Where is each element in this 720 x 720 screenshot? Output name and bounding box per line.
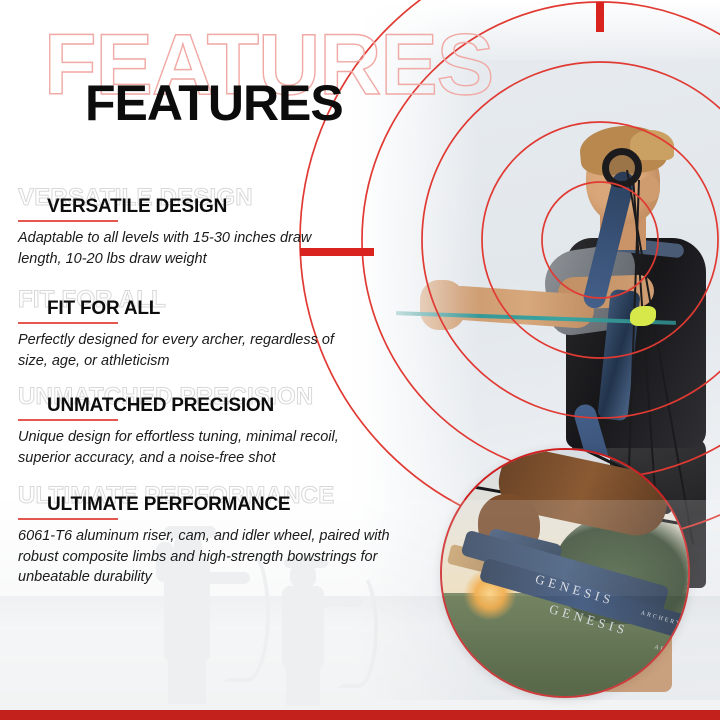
feature-underline [18, 518, 118, 520]
features-content: FEATURES FEATURES VERSATILE DESIGN VERSA… [0, 0, 430, 700]
feature-underline [18, 220, 118, 222]
feature-title: ULTIMATE PERFORMANCE [47, 495, 290, 514]
feature-underline [18, 419, 118, 421]
infographic-canvas: GENESIS ARCHERY GENESIS AR [0, 0, 720, 720]
arrow-nock [630, 306, 656, 326]
feature-body: 6061-T6 aluminum riser, cam, and idler w… [18, 526, 418, 588]
bottom-accent-bar [0, 710, 720, 720]
bow-idler-wheel [602, 148, 642, 188]
page-title-block: FEATURES FEATURES [0, 22, 430, 132]
feature-body: Unique design for effortless tuning, min… [18, 427, 388, 468]
feature-body: Perfectly designed for every archer, reg… [18, 330, 348, 371]
page-title: FEATURES [85, 78, 343, 128]
feature-title: VERSATILE DESIGN [47, 197, 227, 216]
feature-body: Adaptable to all levels with 15-30 inche… [18, 228, 318, 269]
bow-upper-limb [581, 169, 636, 310]
feature-title: FIT FOR ALL [47, 299, 160, 318]
feature-title: UNMATCHED PRECISION [47, 396, 274, 415]
feature-underline [18, 322, 118, 324]
